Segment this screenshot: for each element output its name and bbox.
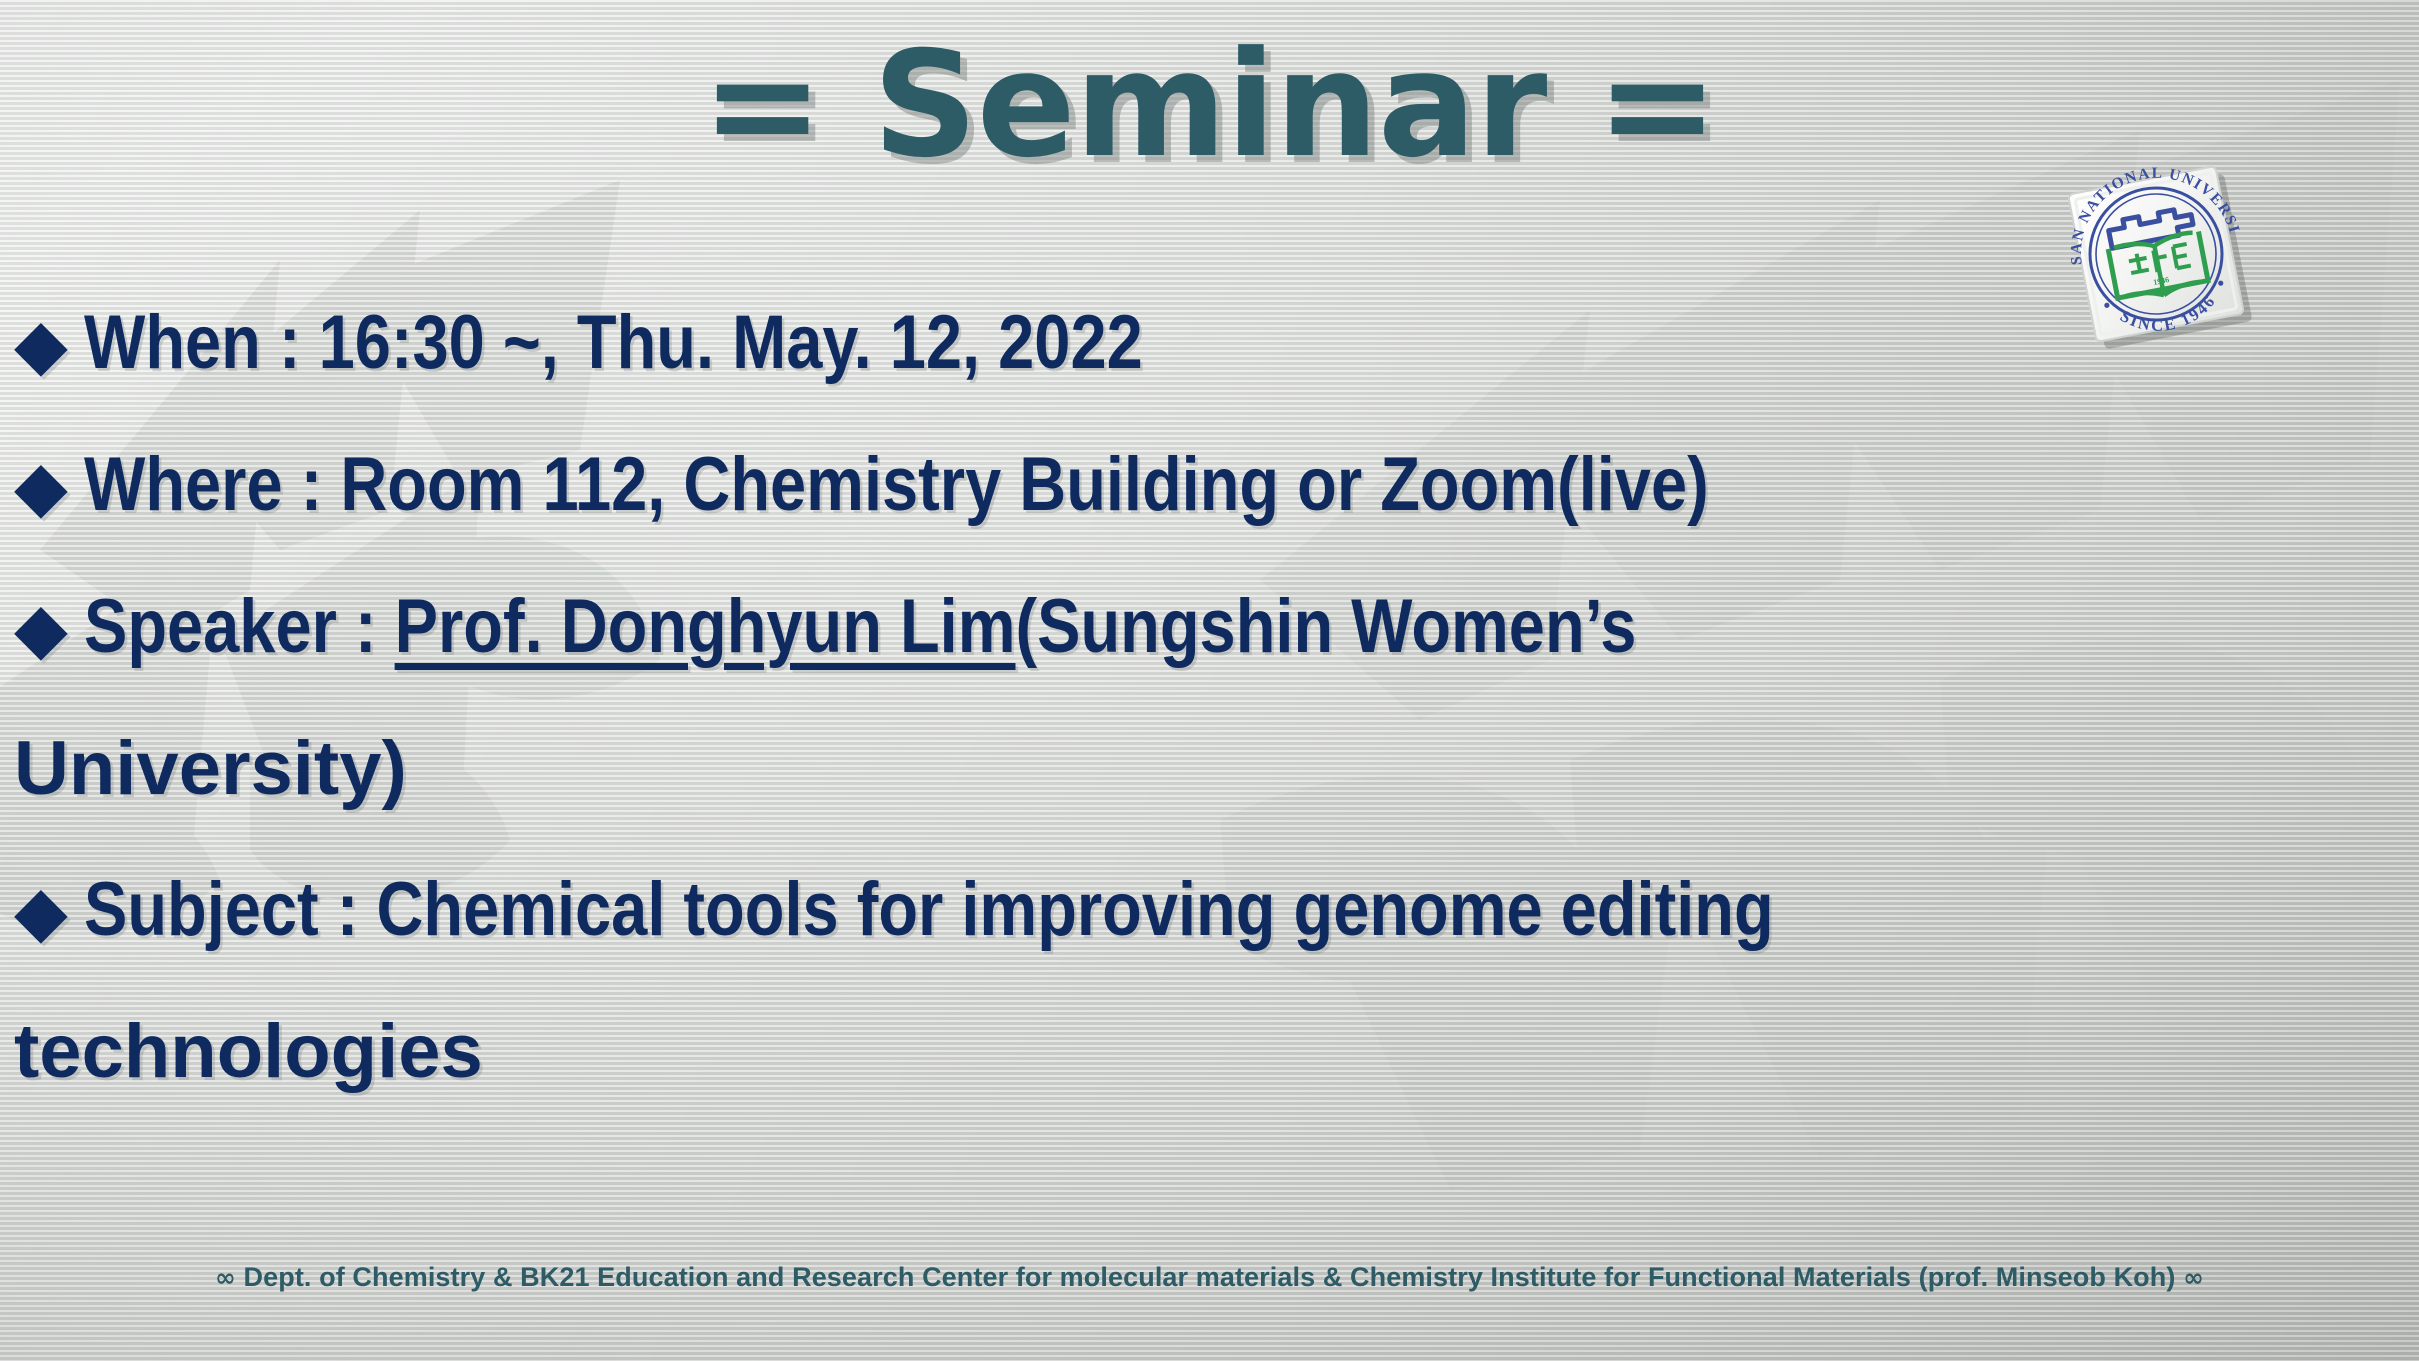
diamond-bullet-icon: ◆ [14,870,68,952]
seminar-slide: = Seminar = PUSAN NATIONAL UNIV [0,0,2419,1361]
diamond-bullet-icon: ◆ [14,303,68,385]
detail-subject-label: Subject : [84,867,376,952]
detail-speaker-label: Speaker : [84,584,395,669]
diamond-bullet-icon: ◆ [14,587,68,669]
detail-where-text: Where : Room 112, Chemistry Building or … [84,438,1709,532]
detail-line-speaker-wrap: University) [14,722,2404,816]
detail-line-subject: ◆Subject : Chemical tools for improving … [14,863,2404,958]
footer-credit: ∞ Dept. of Chemistry & BK21 Education an… [0,1262,2419,1293]
infinity-icon-left: ∞ [215,1263,236,1292]
detail-speaker-affiliation: (Sungshin Women’s [1015,584,1636,669]
infinity-icon-right: ∞ [2183,1263,2204,1292]
detail-line-where: ◆Where : Room 112, Chemistry Building or… [14,438,2404,533]
footer-text: Dept. of Chemistry & BK21 Education and … [244,1262,2176,1292]
seminar-details: ◆When : 16:30 ~, Thu. May. 12, 2022 ◆Whe… [14,296,2404,1146]
detail-subject-text: Chemical tools for improving genome edit… [376,867,1773,952]
pusan-national-university-logo-icon: PUSAN NATIONAL UNIVERSITY SINCE 1946 194… [2036,128,2276,368]
diamond-bullet-icon: ◆ [14,445,68,527]
detail-line-subject-wrap: technologies [14,1005,2404,1099]
detail-when-text: When : 16:30 ~, Thu. May. 12, 2022 [84,296,1143,390]
detail-speaker-name: Prof. Donghyun Lim [394,584,1015,669]
detail-line-speaker: ◆Speaker : Prof. Donghyun Lim(Sungshin W… [14,580,2404,675]
